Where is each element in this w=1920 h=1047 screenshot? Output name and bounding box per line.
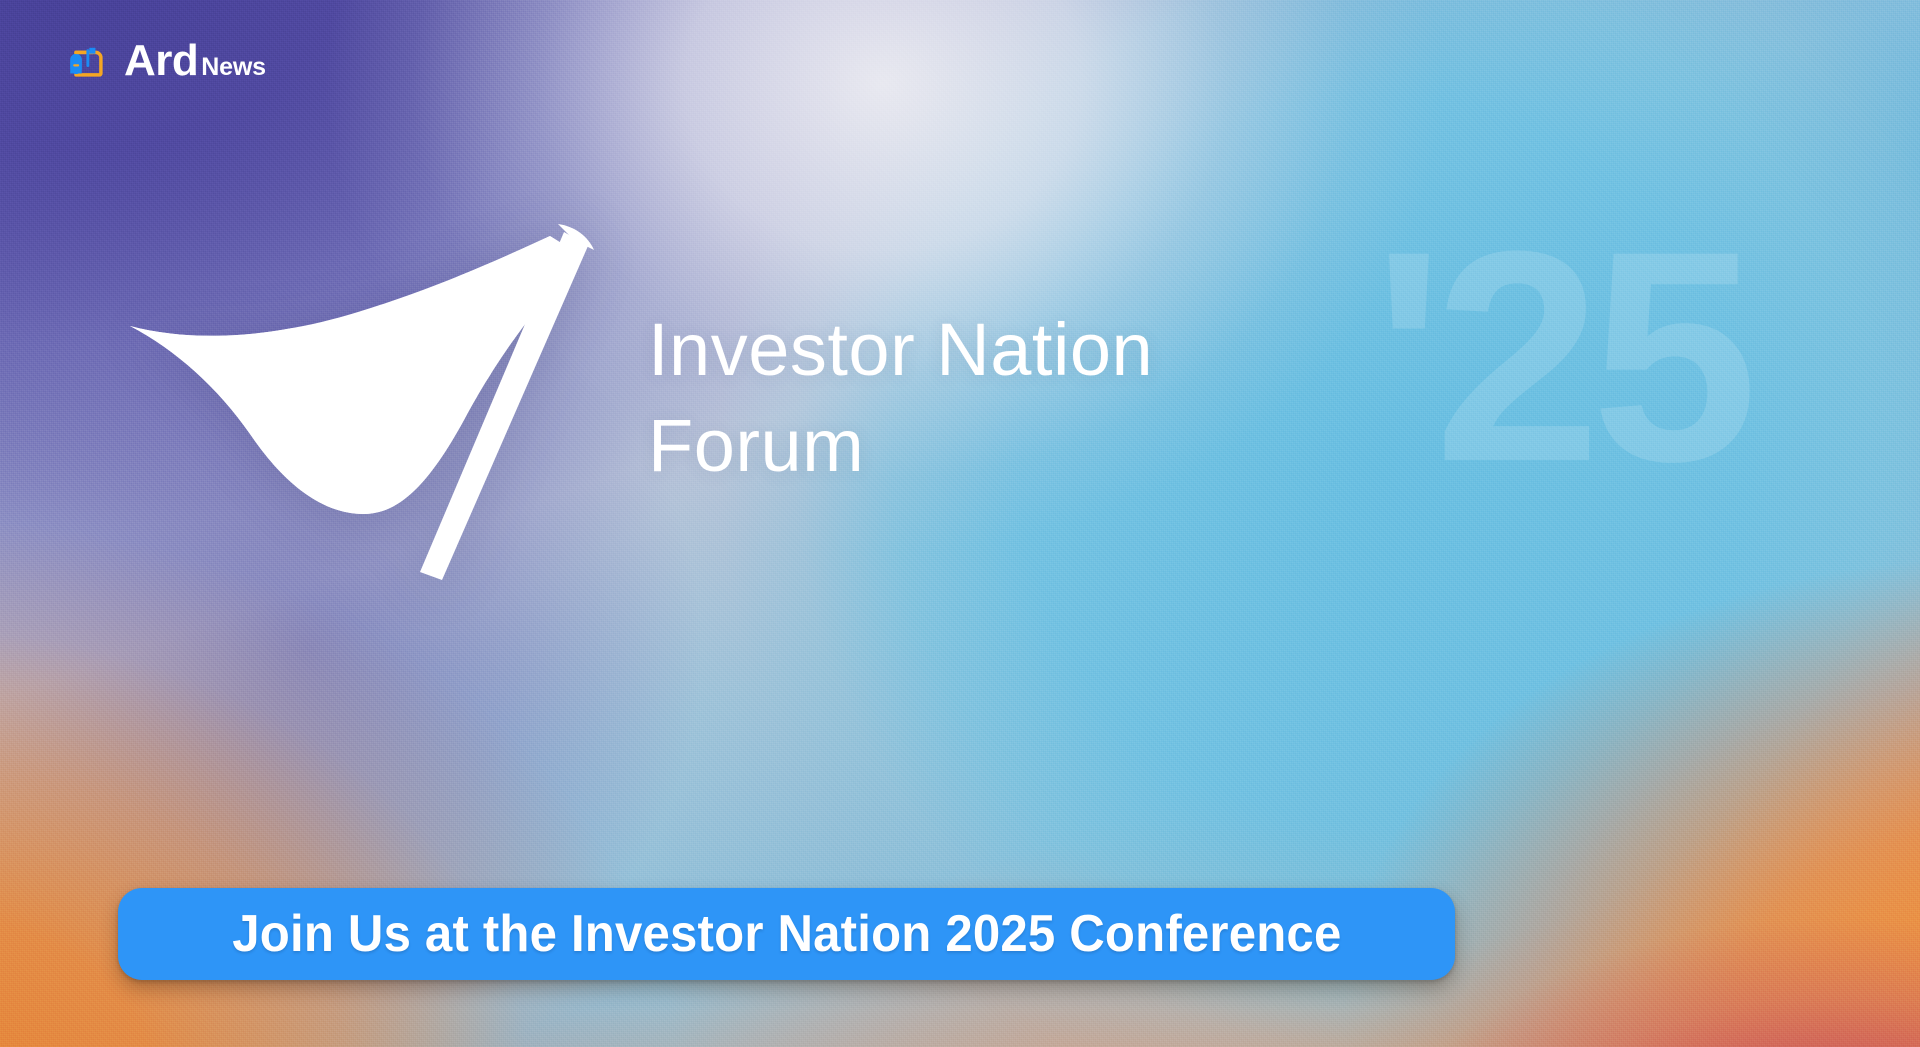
promo-banner-canvas: '25 Ard News: [0, 0, 1920, 1047]
event-title-line-2: Forum: [648, 398, 1153, 494]
panther-flag-icon: [112, 214, 692, 594]
brand-logo[interactable]: Ard News: [64, 38, 266, 84]
brand-name-primary: Ard: [124, 39, 198, 83]
cta-banner[interactable]: Join Us at the Investor Nation 2025 Conf…: [118, 888, 1455, 980]
mailbox-icon: [64, 38, 110, 84]
brand-name-secondary: News: [201, 55, 266, 80]
year-watermark: '25: [1373, 218, 1748, 494]
event-title: Investor Nation Forum: [648, 302, 1153, 494]
brand-wordmark: Ard News: [124, 39, 266, 83]
cta-banner-label: Join Us at the Investor Nation 2025 Conf…: [232, 904, 1341, 964]
event-title-line-1: Investor Nation: [648, 302, 1153, 398]
